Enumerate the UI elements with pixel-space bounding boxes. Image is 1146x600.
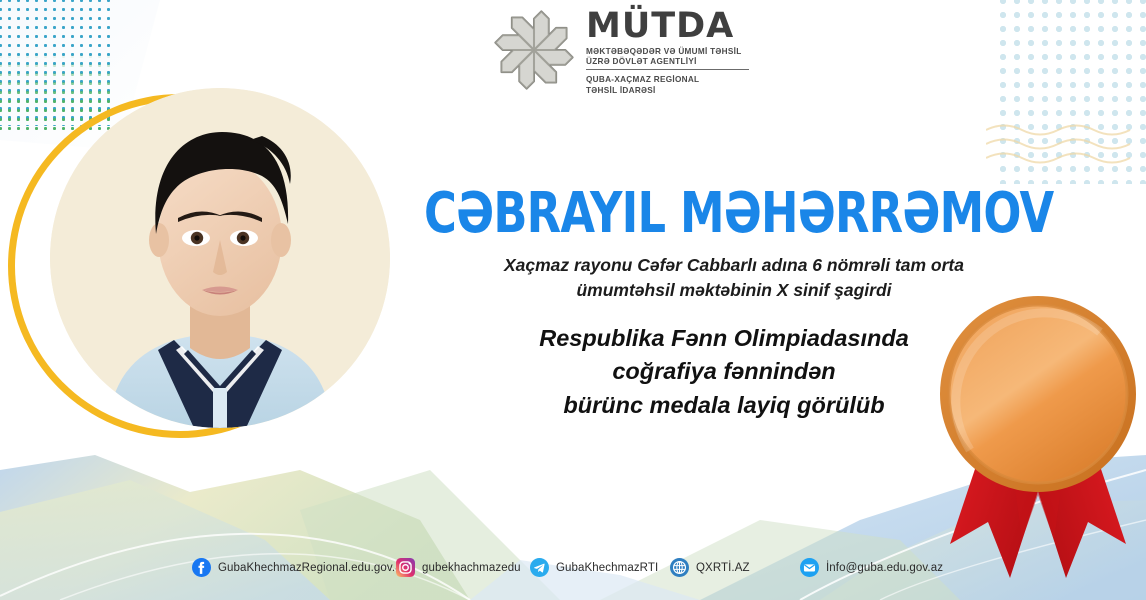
globe-icon xyxy=(670,558,689,577)
logo-subtitle: MƏKTƏBƏQƏDƏR VƏ ÜMUMİ TƏHSİL ÜZRƏ DÖVLƏT… xyxy=(586,47,749,70)
footer-social-bar: GubaKhechmazRegional.edu.gov.az gubekhac… xyxy=(0,554,1146,600)
logo-subtitle-line2: ÜZRƏ DÖVLƏT AGENTLİYİ xyxy=(586,57,749,67)
logo-region: QUBA-XAÇMAZ REGİONAL TƏHSİL İDARƏSİ xyxy=(586,75,749,96)
logo-region-line1: QUBA-XAÇMAZ REGİONAL xyxy=(586,75,749,85)
logo-title: MÜTDA xyxy=(586,10,749,43)
organization-logo: MÜTDA MƏKTƏBƏQƏDƏR VƏ ÜMUMİ TƏHSİL ÜZRƏ … xyxy=(488,4,788,104)
telegram-icon xyxy=(530,558,549,577)
student-photo-block xyxy=(8,88,378,488)
student-name: CƏBRAYIL MƏHƏRRƏMOV xyxy=(424,186,920,242)
school-line-1: Xaçmaz rayonu Cəfər Cabbarlı adına 6 nöm… xyxy=(424,253,1044,278)
footer-label-instagram: gubekhachmazedu xyxy=(422,562,521,574)
email-icon xyxy=(800,558,819,577)
footer-label-email: İnfo@guba.edu.gov.az xyxy=(826,562,943,574)
bronze-medal-with-red-ribbon-icon xyxy=(930,290,1146,585)
footer-label-facebook: GubaKhechmazRegional.edu.gov.az xyxy=(218,562,408,574)
award-poster: MÜTDA MƏKTƏBƏQƏDƏR VƏ ÜMUMİ TƏHSİL ÜZRƏ … xyxy=(0,0,1146,600)
facebook-icon xyxy=(192,558,211,577)
logo-subtitle-line1: MƏKTƏBƏQƏDƏR VƏ ÜMUMİ TƏHSİL xyxy=(586,47,749,57)
dot-grid-top-right-icon xyxy=(996,0,1146,184)
wavy-lines-icon xyxy=(986,118,1136,168)
footer-label-website: QXRTİ.AZ xyxy=(696,562,750,574)
mutda-snowflake-emblem-icon xyxy=(488,4,580,96)
instagram-icon xyxy=(396,558,415,577)
logo-region-line2: TƏHSİL İDARƏSİ xyxy=(586,86,749,96)
footer-item-website[interactable]: QXRTİ.AZ xyxy=(670,558,750,577)
footer-item-email[interactable]: İnfo@guba.edu.gov.az xyxy=(800,558,943,577)
footer-label-telegram: GubaKhechmazRTI xyxy=(556,562,658,574)
student-portrait-photo xyxy=(50,88,390,428)
footer-item-instagram[interactable]: gubekhachmazedu xyxy=(396,558,521,577)
footer-item-telegram[interactable]: GubaKhechmazRTI xyxy=(530,558,658,577)
footer-item-facebook[interactable]: GubaKhechmazRegional.edu.gov.az xyxy=(192,558,408,577)
